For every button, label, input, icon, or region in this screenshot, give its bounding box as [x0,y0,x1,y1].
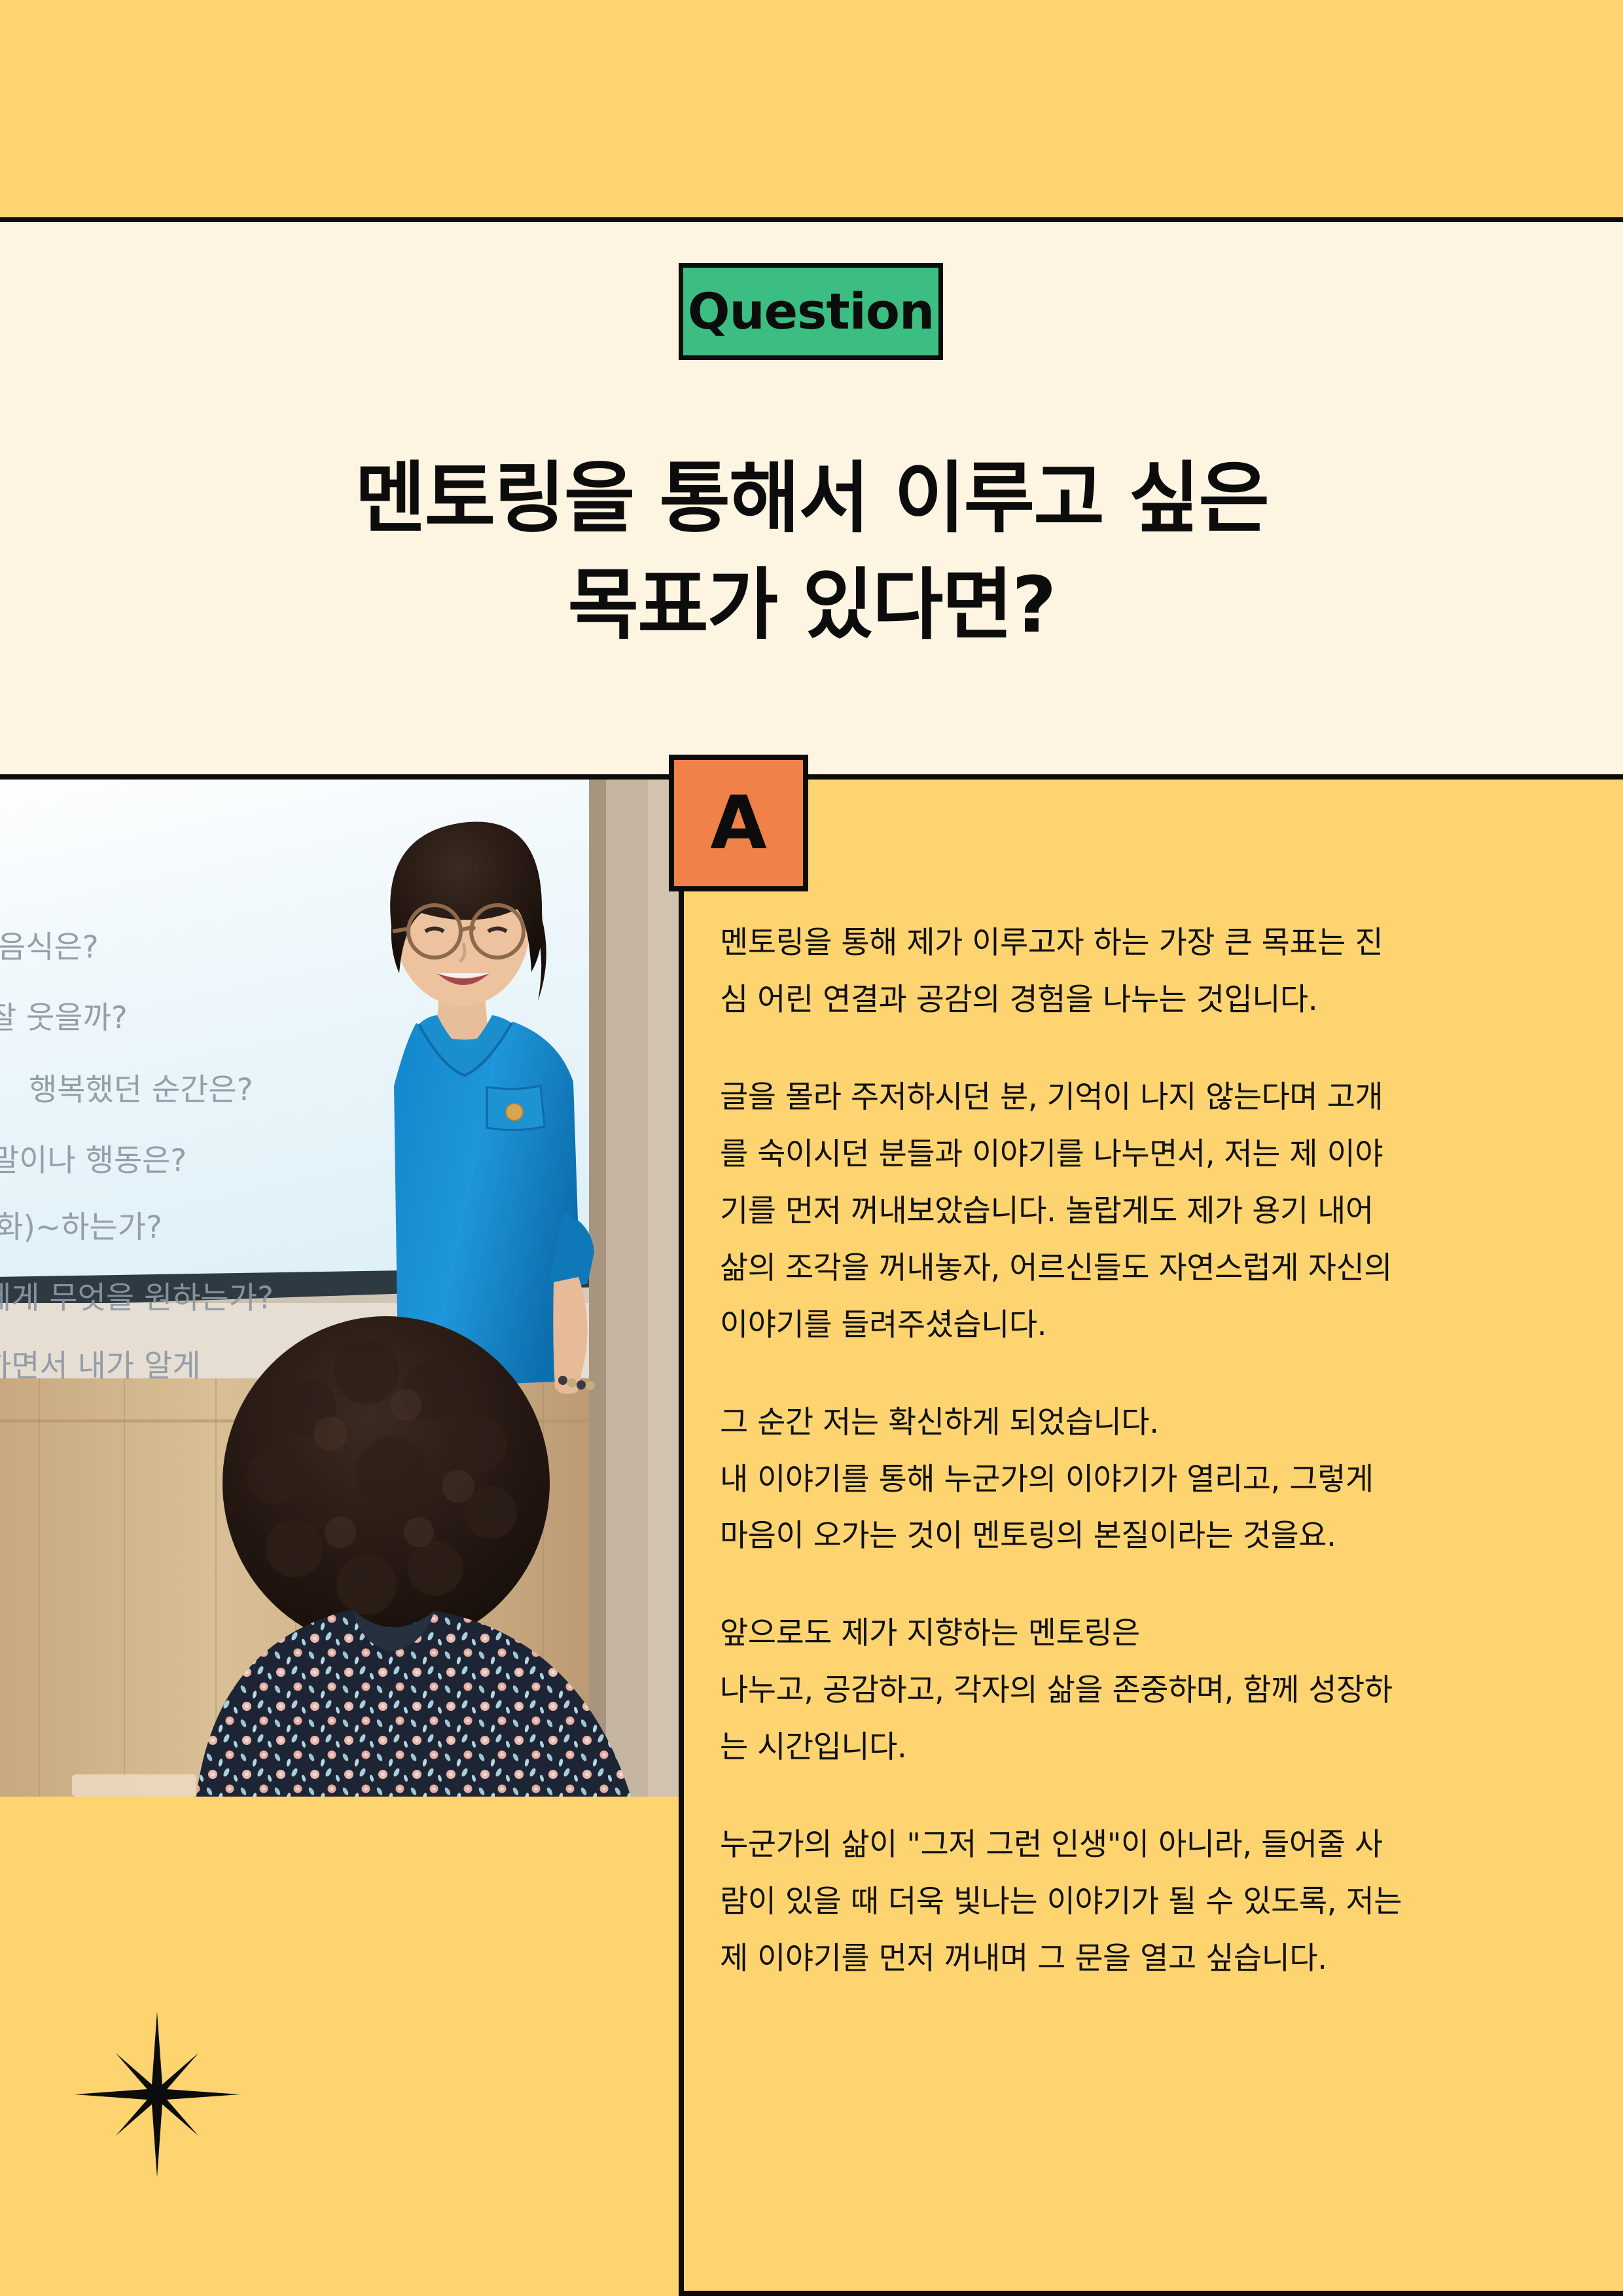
question-title-line-2: 목표가 있다면? [0,552,1623,658]
mentoring-photo: 음식은? 잘 웃을까? 행복했던 순간은? 말이나 행동은? (화)~하는가? … [0,780,679,1797]
answer-paragraph-1: 멘토링을 통해 제가 이루고자 하는 가장 큰 목표는 진 심 어린 연결과 공… [720,915,1568,1029]
answer-line: 마음이 오가는 것이 멘토링의 본질이라는 것을요. [720,1508,1568,1565]
question-badge-label: Question [688,287,934,336]
answer-line: 나누고, 공감하고, 각자의 삶을 존중하며, 함께 성장하 [720,1662,1568,1719]
photo-illustration: 음식은? 잘 웃을까? 행복했던 순간은? 말이나 행동은? (화)~하는가? … [0,780,679,1797]
answer-line: 삶의 조각을 꺼내놓자, 어르신들도 자연스럽게 자신의 [720,1240,1568,1297]
question-title: 멘토링을 통해서 이루고 싶은 목표가 있다면? [0,445,1623,658]
answer-line: 이야기를 들려주셨습니다. [720,1297,1568,1354]
svg-text:말이나 행동은?: 말이나 행동은? [0,1143,187,1179]
answer-paragraph-2: 글을 몰라 주저하시던 분, 기억이 나지 않는다며 고개 를 숙이시던 분들과… [720,1069,1568,1354]
answer-badge-label: A [710,787,767,860]
svg-text:음식은?: 음식은? [0,929,99,965]
answer-paragraph-3: 그 순간 저는 확신하게 되었습니다. 내 이야기를 통해 누군가의 이야기가 … [720,1395,1568,1566]
answer-line: 람이 있을 때 더욱 빛나는 이야기가 될 수 있도록, 저는 [720,1874,1568,1931]
answer-line: 내 이야기를 통해 누군가의 이야기가 열리고, 그렇게 [720,1452,1568,1509]
answer-line: 는 시간입니다. [720,1719,1568,1776]
answer-line: 기를 먼저 꺼내보았습니다. 놀랍게도 제가 용기 내어 [720,1183,1568,1240]
qa-card: Question 멘토링을 통해서 이루고 싶은 목표가 있다면? [0,0,1623,2296]
svg-text:에게 무엇을 원하는가?: 에게 무엇을 원하는가? [0,1280,274,1316]
answer-paragraph-5: 누군가의 삶이 "그저 그런 인생"이 아니라, 들어줄 사 람이 있을 때 더… [720,1817,1568,1988]
question-title-line-1: 멘토링을 통해서 이루고 싶은 [0,445,1623,552]
answer-line: 심 어린 연결과 공감의 경험을 나누는 것입니다. [720,972,1568,1029]
answer-line: 를 숙이시던 분들과 이야기를 나누면서, 저는 제 이야 [720,1126,1568,1183]
answer-line: 제 이야기를 먼저 꺼내며 그 문을 열고 싶습니다. [720,1931,1568,1988]
answer-line: 글을 몰라 주저하시던 분, 기억이 나지 않는다며 고개 [720,1069,1568,1126]
svg-text:하면서 내가 알게: 하면서 내가 알게 [0,1348,201,1384]
svg-text:행복했던 순간은?: 행복했던 순간은? [29,1072,253,1108]
svg-text:(화)~하는가?: (화)~하는가? [0,1210,162,1246]
answer-body-text: 멘토링을 통해 제가 이루고자 하는 가장 큰 목표는 진 심 어린 연결과 공… [720,915,1568,1988]
answer-line: 앞으로도 제가 지향하는 멘토링은 [720,1605,1568,1662]
question-badge: Question [679,263,943,360]
svg-text:잘 웃을까?: 잘 웃을까? [0,1000,128,1036]
answer-line: 누군가의 삶이 "그저 그런 인생"이 아니라, 들어줄 사 [720,1817,1568,1874]
eight-point-sparkle-icon [71,2008,243,2181]
answer-line: 멘토링을 통해 제가 이루고자 하는 가장 큰 목표는 진 [720,915,1568,972]
answer-badge: A [669,755,808,891]
top-yellow-band [0,0,1623,217]
top-divider-rule [0,217,1623,222]
question-divider-rule [0,774,1623,780]
answer-paragraph-4: 앞으로도 제가 지향하는 멘토링은 나누고, 공감하고, 각자의 삶을 존중하며… [720,1605,1568,1776]
answer-line: 그 순간 저는 확신하게 되었습니다. [720,1395,1568,1452]
